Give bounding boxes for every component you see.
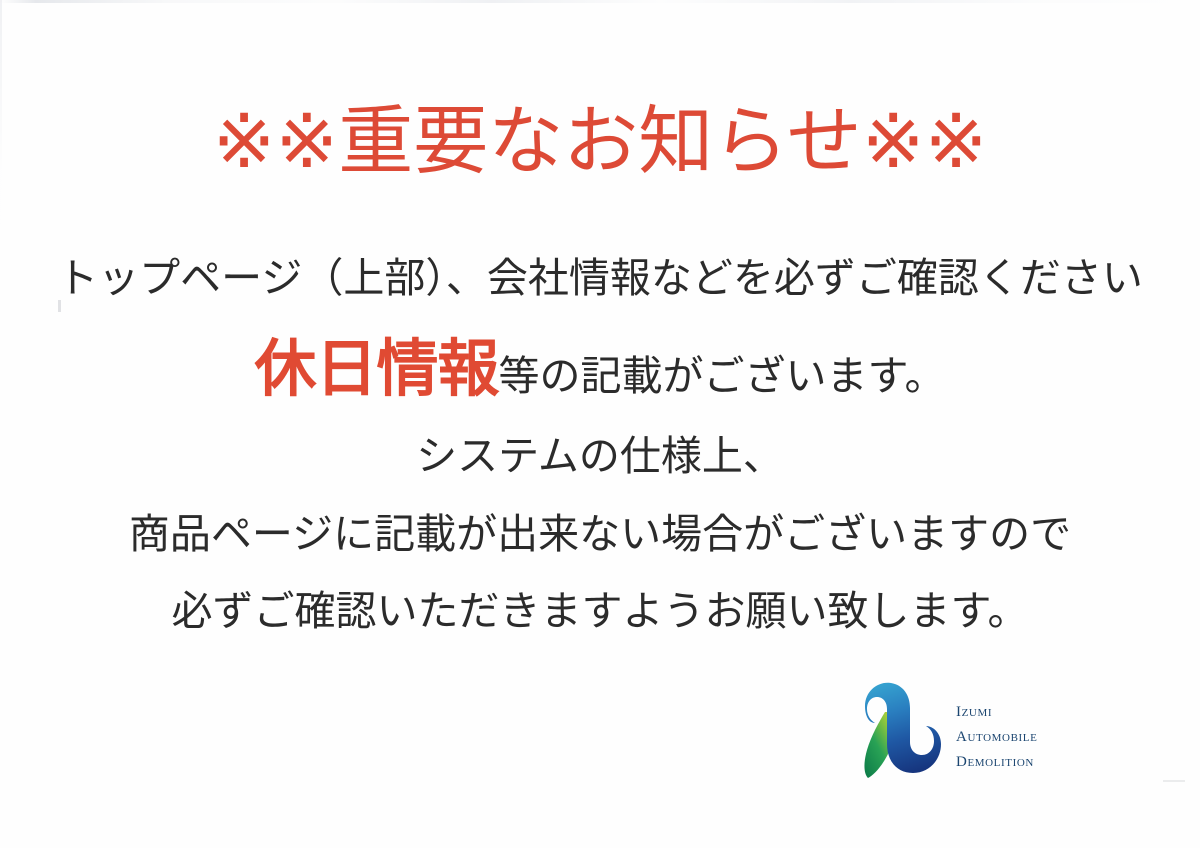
izumi-swirl-leaf-mark <box>838 678 950 782</box>
notice-line-1: トップページ（上部）、会社情報などを必ずご確認ください <box>0 258 1200 299</box>
wordmark-line-izumi: IZUMI <box>956 697 1037 721</box>
notice-title: ※※重要なお知らせ※※ <box>0 104 1200 179</box>
notice-line-2: 休日情報等の記載がございます。 <box>0 338 1200 400</box>
holiday-info-highlight: 休日情報 <box>255 332 499 405</box>
notice-body: トップページ（上部）、会社情報などを必ずご確認ください 休日情報等の記載がござい… <box>0 258 1200 632</box>
brand-logo: IZUMI AUTOMOBILE DEMOLITION <box>838 676 1110 784</box>
notice-line-3: システムの仕様上、 <box>0 436 1200 477</box>
wordmark-line-demolition: DEMOLITION <box>956 747 1037 771</box>
wordmark-line-automobile: AUTOMOBILE <box>956 722 1037 746</box>
notice-line-2-tail: 等の記載がございます。 <box>499 352 946 400</box>
brand-wordmark: IZUMI AUTOMOBILE DEMOLITION <box>956 689 1037 770</box>
scan-edge-artifact-top <box>0 0 1200 3</box>
notice-line-4: 商品ページに記載が出来ない場合がございますので <box>0 514 1200 555</box>
notice-line-5: 必ずご確認いただきますようお願い致します。 <box>0 591 1200 632</box>
scan-speck-artifact <box>1163 780 1185 782</box>
scanned-notice-page: ※※重要なお知らせ※※ トップページ（上部）、会社情報などを必ずご確認ください … <box>0 0 1200 848</box>
